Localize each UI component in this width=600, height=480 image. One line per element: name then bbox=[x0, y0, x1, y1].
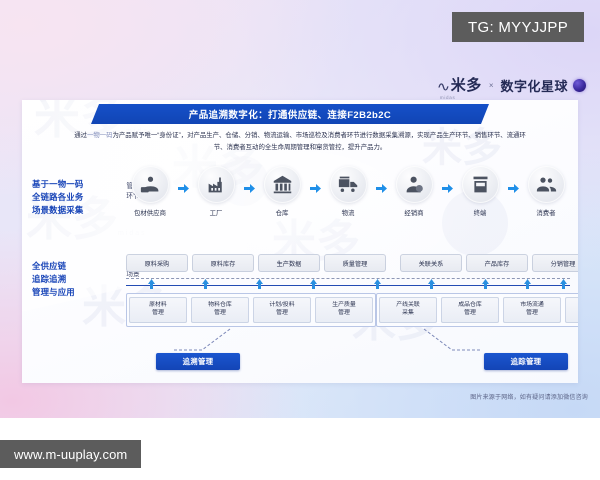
consumers-icon bbox=[528, 166, 565, 203]
support-cell[interactable]: 市场流通管理 bbox=[503, 297, 561, 323]
scenario-chip[interactable]: 分销管理 bbox=[532, 254, 578, 272]
support-product-row: 原材料管理 物料仓库管理 计划/投料管理 生产质量管理 产线关联采集 bbox=[126, 292, 570, 328]
poster-background: ∿ 米多 midas × 数字化星球 米多midas 米多 米多midas 米多 bbox=[0, 0, 600, 418]
diagram-card: 米多midas 米多 米多midas 米多 米多 米多 米多 bbox=[22, 100, 578, 383]
scenario-chip-row: 原料采购 原料库存 生产数据 质量管理 关联关系 产品库存 分销管理 流向管理 … bbox=[126, 252, 570, 274]
supplier-person-icon bbox=[132, 166, 169, 203]
connector-band bbox=[126, 276, 570, 290]
right-arrow-icon bbox=[310, 180, 321, 189]
leader-line-right bbox=[422, 328, 482, 354]
partner-name-cn: 数字化星球 bbox=[500, 76, 568, 95]
scenario-group-right: 关联关系 产品库存 分销管理 流向管理 消费者管理 bbox=[400, 254, 578, 272]
chain-node[interactable]: 仓库 bbox=[258, 166, 306, 217]
description-text: 通过一物一码为产品赋予唯一“身份证”，对产品生产、仓储、分销、物流运输、市场巡检… bbox=[74, 130, 526, 154]
midas-logo: ∿ 米多 midas bbox=[438, 78, 482, 93]
chain-node[interactable]: 经销商 bbox=[390, 166, 438, 217]
telegram-watermark: TG: MYYJJPP bbox=[452, 12, 584, 42]
support-cell[interactable]: 防伪防窜查询 bbox=[565, 297, 578, 323]
site-watermark: www.m-uuplay.com bbox=[0, 440, 141, 468]
source-disclaimer: 图片来源于网络，如有疑问请添加微信咨询 bbox=[470, 392, 588, 401]
chain-node[interactable]: 包材供应商 bbox=[126, 166, 174, 217]
chain-node-label: 消费者 bbox=[536, 208, 555, 217]
chain-node-label: 仓库 bbox=[276, 208, 289, 217]
swoosh-icon: ∿ bbox=[437, 80, 451, 93]
right-arrow-icon bbox=[508, 180, 519, 189]
leader-line-left bbox=[172, 328, 232, 354]
description-prefix: 通过 bbox=[74, 132, 87, 139]
up-arrow-icon bbox=[560, 276, 567, 286]
support-cell[interactable]: 生产质量管理 bbox=[315, 297, 373, 323]
purple-planet-icon bbox=[573, 79, 586, 92]
support-cell[interactable]: 成品仓库管理 bbox=[441, 297, 499, 323]
scenario-chip[interactable]: 产品库存 bbox=[466, 254, 528, 272]
chain-node-label: 经销商 bbox=[404, 208, 423, 217]
scenario-chip[interactable]: 生产数据 bbox=[258, 254, 320, 272]
dashed-connector-line bbox=[126, 278, 570, 279]
up-arrow-icon bbox=[202, 276, 209, 286]
section-title-data-collection: 基于一物一码 全链路各业务 场景数据采集 bbox=[32, 178, 83, 217]
chain-node-label: 工厂 bbox=[210, 208, 223, 217]
factory-icon bbox=[198, 166, 235, 203]
title-banner: 产品追溯数字化：打通供应链、连接F2B2b2C bbox=[91, 104, 489, 124]
up-arrow-icon bbox=[310, 276, 317, 286]
trace-back-management-button[interactable]: 追溯管理 bbox=[156, 353, 240, 370]
store-icon bbox=[462, 166, 499, 203]
chain-node[interactable]: 工厂 bbox=[192, 166, 240, 217]
dealer-person-icon bbox=[396, 166, 433, 203]
warehouse-icon bbox=[264, 166, 301, 203]
up-arrow-icon bbox=[148, 276, 155, 286]
support-cell[interactable]: 产线关联采集 bbox=[379, 297, 437, 323]
support-group-right: 产线关联采集 成品仓库管理 市场流通管理 防伪防窜查询 扫码营销服务 bbox=[376, 293, 578, 327]
scenario-chip[interactable]: 原料库存 bbox=[192, 254, 254, 272]
support-cell[interactable]: 物料仓库管理 bbox=[191, 297, 249, 323]
support-group-left: 原材料管理 物料仓库管理 计划/投料管理 生产质量管理 bbox=[126, 293, 376, 327]
section-title-traceability: 全供应链 追踪追溯 管理与应用 bbox=[32, 260, 75, 299]
brand-lockup: ∿ 米多 midas × 数字化星球 bbox=[438, 76, 586, 95]
up-arrow-icon bbox=[482, 276, 489, 286]
description-body: 为产品赋予唯一“身份证”，对产品生产、仓储、分销、物流运输、市场巡检及消费者环节… bbox=[113, 132, 526, 151]
scenario-chip[interactable]: 原料采购 bbox=[126, 254, 188, 272]
supply-chain-flow: 包材供应商 工厂 仓库 bbox=[126, 166, 570, 228]
brand-separator: × bbox=[489, 81, 494, 90]
chain-node[interactable]: 终端 bbox=[456, 166, 504, 217]
chain-node[interactable]: 物流 bbox=[324, 166, 372, 217]
description-highlight: 一物一码 bbox=[87, 132, 113, 139]
right-arrow-icon bbox=[376, 180, 387, 189]
support-cell[interactable]: 原材料管理 bbox=[129, 297, 187, 323]
scenario-chip[interactable]: 质量管理 bbox=[324, 254, 386, 272]
chain-node[interactable]: 消费者 bbox=[522, 166, 570, 217]
right-arrow-icon bbox=[178, 180, 189, 189]
page-title: 产品追溯数字化：打通供应链、连接F2B2b2C bbox=[189, 107, 391, 121]
chain-node-label: 包材供应商 bbox=[134, 208, 166, 217]
right-arrow-icon bbox=[442, 180, 453, 189]
brand-name-cn: 米多 bbox=[451, 78, 482, 93]
scenario-group-left: 原料采购 原料库存 生产数据 质量管理 bbox=[126, 254, 386, 272]
up-arrow-icon bbox=[524, 276, 531, 286]
up-arrow-icon bbox=[374, 276, 381, 286]
brand-name-en: midas bbox=[440, 95, 456, 100]
truck-icon bbox=[330, 166, 367, 203]
screenshot-root: ∿ 米多 midas × 数字化星球 米多midas 米多 米多midas 米多 bbox=[0, 0, 600, 480]
chain-node-label: 终端 bbox=[474, 208, 487, 217]
right-arrow-icon bbox=[244, 180, 255, 189]
up-arrow-icon bbox=[256, 276, 263, 286]
track-management-button[interactable]: 追踪管理 bbox=[484, 353, 568, 370]
chain-node-label: 物流 bbox=[342, 208, 355, 217]
scenario-chip[interactable]: 关联关系 bbox=[400, 254, 462, 272]
support-cell[interactable]: 计划/投料管理 bbox=[253, 297, 311, 323]
up-arrow-icon bbox=[428, 276, 435, 286]
solid-connector-line bbox=[126, 285, 570, 286]
